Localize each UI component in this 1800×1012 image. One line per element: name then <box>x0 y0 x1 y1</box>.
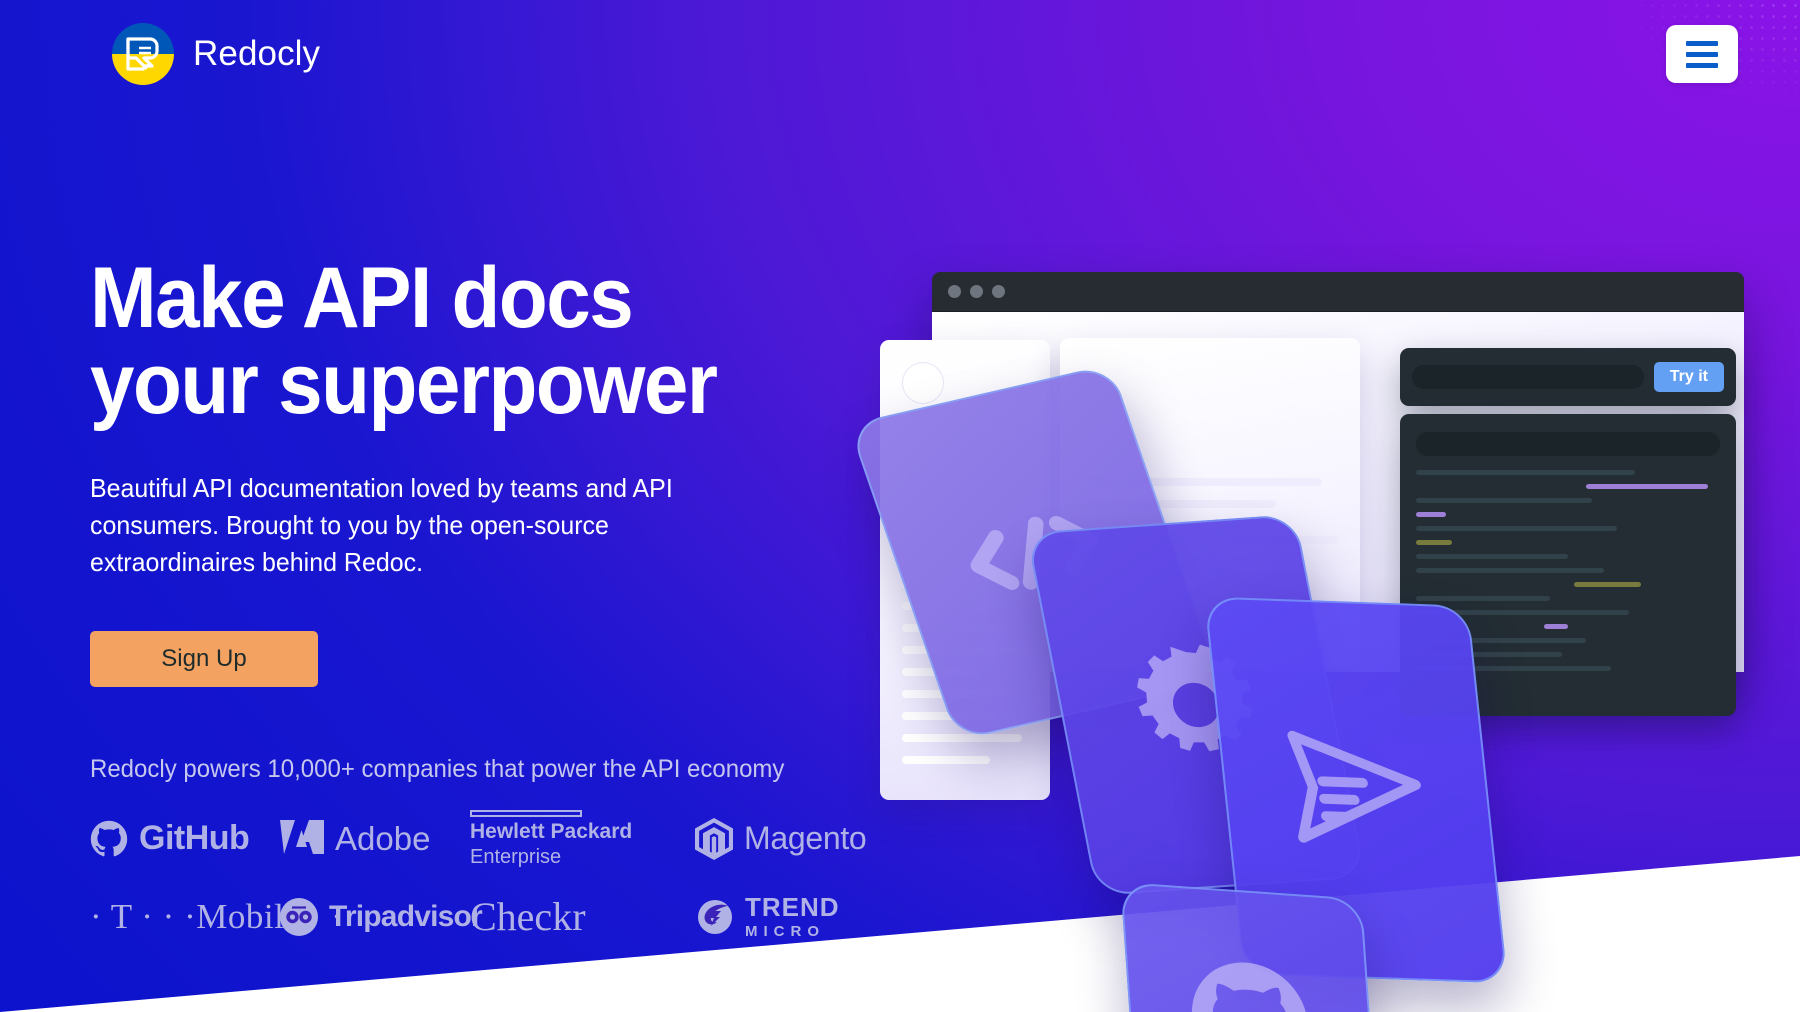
github-octocat-icon <box>90 820 128 858</box>
customer-logo-label-line1: TREND <box>745 894 840 920</box>
customer-logo-label-line2: MICRO <box>745 924 840 939</box>
api-search-field[interactable] <box>1416 432 1720 456</box>
redocly-logo-icon <box>112 23 174 85</box>
customer-logo-tripadvisor: Tripadvisor <box>280 888 470 946</box>
sign-up-button[interactable]: Sign Up <box>90 631 318 687</box>
paper-plane-icon <box>1273 718 1439 863</box>
hamburger-menu-icon-bar-1 <box>1686 41 1718 46</box>
customer-logo-label-line2: Enterprise <box>470 847 561 868</box>
try-it-button[interactable]: Try it <box>1654 362 1724 392</box>
magento-hexagon-icon <box>695 818 733 860</box>
hpe-bar-icon <box>470 810 582 817</box>
hero-section: Make API docs your superpower Beautiful … <box>90 255 890 946</box>
hamburger-menu-icon-bar-2 <box>1686 52 1718 57</box>
window-close-dot-icon <box>948 285 961 298</box>
api-url-field[interactable] <box>1412 365 1644 389</box>
hamburger-menu-icon-bar-3 <box>1686 63 1718 68</box>
customer-logo-label: Tripadvisor <box>329 900 482 934</box>
customer-logo-label: Adobe <box>335 820 430 858</box>
social-proof-text: Redocly powers 10,000+ companies that po… <box>90 755 858 784</box>
hamburger-menu-button[interactable] <box>1666 25 1738 83</box>
customer-logo-label: Checkr <box>470 893 586 940</box>
customer-logo-hpe: Hewlett Packard Enterprise <box>470 810 695 868</box>
trendmicro-wordmark: TREND MICRO <box>745 894 840 939</box>
brand-name: Redocly <box>193 34 320 74</box>
brand-logo-link[interactable]: Redocly <box>112 23 320 85</box>
customer-logo-github: GitHub <box>90 810 280 868</box>
github-octocat-icon <box>1185 956 1314 1012</box>
adobe-a-icon <box>280 820 324 858</box>
trendmicro-swirl-icon <box>695 897 735 937</box>
customer-logo-tmobile: · T · · ·Mobile · · <box>90 888 280 946</box>
customer-logo-magento: Magento <box>695 810 895 868</box>
window-minimize-dot-icon <box>970 285 983 298</box>
hero-subtitle: Beautiful API documentation loved by tea… <box>90 470 724 581</box>
customer-logo-label: GitHub <box>139 819 249 858</box>
customer-logo-adobe: Adobe <box>280 810 470 868</box>
customer-logo-checkr: Checkr <box>470 888 695 946</box>
tripadvisor-owl-icon <box>280 898 318 936</box>
feature-card-github <box>1120 882 1380 1012</box>
browser-title-bar <box>932 272 1744 312</box>
site-header: Redocly <box>0 0 1800 108</box>
avatar <box>902 362 944 404</box>
window-maximize-dot-icon <box>992 285 1005 298</box>
api-request-bar: Try it <box>1400 348 1736 406</box>
hero-illustration: Try it <box>880 200 1800 1012</box>
page-title: Make API docs your superpower <box>90 255 834 427</box>
customer-logo-label: Magento <box>744 820 866 857</box>
customer-logo-label-line1: Hewlett Packard <box>470 821 632 843</box>
customer-logo-grid: GitHub Adobe Hewlett Packard Enterprise … <box>90 810 890 946</box>
customer-logo-trendmicro: TREND MICRO <box>695 888 895 946</box>
